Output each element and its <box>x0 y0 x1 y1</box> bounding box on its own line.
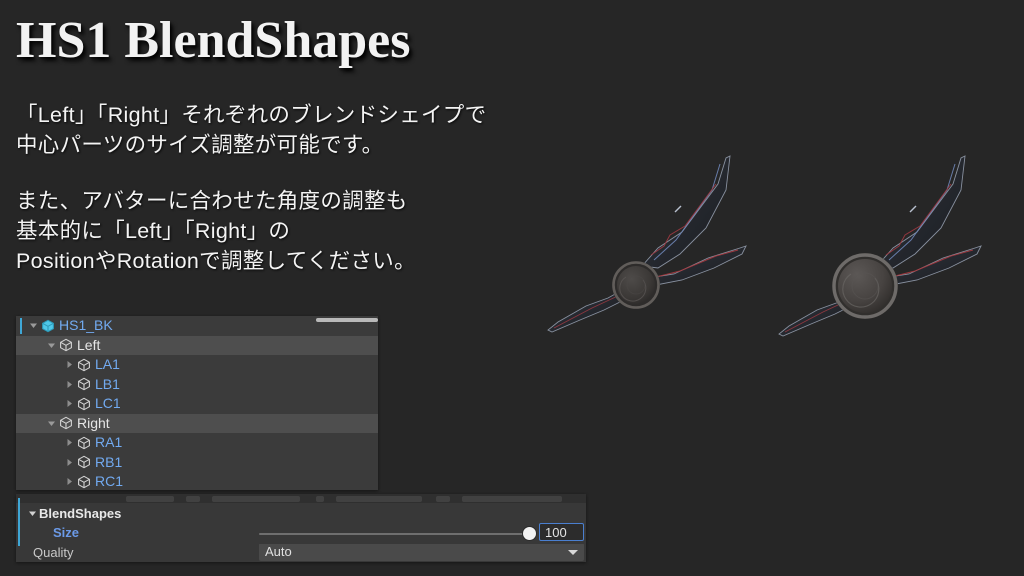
paragraph-2-line-1: また、アバターに合わせた角度の調整も <box>16 186 576 216</box>
chevron-right-icon[interactable] <box>64 433 75 453</box>
prefab-cube-icon <box>39 316 56 336</box>
paragraph-spacer <box>16 160 576 186</box>
gameobject-cube-icon <box>57 336 74 356</box>
blendshapes-foldout-header[interactable]: BlendShapes <box>26 504 121 524</box>
hierarchy-row-label: Right <box>77 414 110 434</box>
hs1-model-small-hub <box>530 128 765 373</box>
size-slider-handle[interactable] <box>523 527 536 540</box>
paragraph-2: また、アバターに合わせた角度の調整も 基本的に「Left」「Right」の Po… <box>16 186 576 276</box>
gameobject-cube-icon <box>75 375 92 395</box>
hierarchy-row-label: LA1 <box>95 355 120 375</box>
hierarchy-row-label: Left <box>77 336 100 356</box>
blendshapes-header-label: BlendShapes <box>39 506 121 521</box>
quality-dropdown[interactable]: Auto <box>259 544 584 561</box>
hierarchy-row-rb1[interactable]: RB1 <box>16 453 378 473</box>
quality-label: Quality <box>33 544 73 562</box>
chevron-right-icon[interactable] <box>64 453 75 473</box>
chevron-down-icon <box>26 504 39 524</box>
gameobject-cube-icon <box>75 472 92 490</box>
size-value-field[interactable]: 100 <box>539 523 584 541</box>
prefab-indicator-bar <box>20 318 22 334</box>
chevron-right-icon[interactable] <box>64 355 75 375</box>
hierarchy-row-la1[interactable]: LA1 <box>16 355 378 375</box>
size-property-row[interactable]: Size 100 <box>16 522 586 544</box>
paragraph-1-line-2: 中心パーツのサイズ調整が可能です。 <box>16 130 576 160</box>
chevron-down-icon[interactable] <box>46 414 57 434</box>
chevron-right-icon[interactable] <box>64 472 75 490</box>
hs1-model-large-hub <box>765 128 1015 373</box>
hierarchy-row-label: RB1 <box>95 453 122 473</box>
slide-root: HS1 BlendShapes 「Left」「Right」それぞれのブレンドシェ… <box>0 0 1024 576</box>
gameobject-cube-icon <box>75 433 92 453</box>
chevron-down-icon <box>568 550 578 555</box>
chevron-down-icon[interactable] <box>46 336 57 356</box>
hierarchy-row-lb1[interactable]: LB1 <box>16 375 378 395</box>
paragraph-1-line-1: 「Left」「Right」それぞれのブレンドシェイプで <box>16 100 576 130</box>
gameobject-cube-icon <box>57 414 74 434</box>
gameobject-cube-icon <box>75 355 92 375</box>
paragraph-1: 「Left」「Right」それぞれのブレンドシェイプで 中心パーツのサイズ調整が… <box>16 100 576 160</box>
body-copy: 「Left」「Right」それぞれのブレンドシェイプで 中心パーツのサイズ調整が… <box>16 100 576 276</box>
paragraph-2-line-2: 基本的に「Left」「Right」の <box>16 216 576 246</box>
page-title: HS1 BlendShapes <box>16 10 411 72</box>
gameobject-cube-icon <box>75 453 92 473</box>
unity-inspector-blendshapes[interactable]: BlendShapes Size 100 Quality Auto <box>16 494 586 562</box>
hierarchy-row-label: LB1 <box>95 375 120 395</box>
hierarchy-row-label: LC1 <box>95 394 121 414</box>
unity-hierarchy-panel[interactable]: HS1_BKLeftLA1LB1LC1RightRA1RB1RC1 <box>16 316 378 490</box>
hierarchy-row-lc1[interactable]: LC1 <box>16 394 378 414</box>
hierarchy-row-rc1[interactable]: RC1 <box>16 472 378 490</box>
size-label: Size <box>53 524 79 542</box>
hierarchy-tree[interactable]: HS1_BKLeftLA1LB1LC1RightRA1RB1RC1 <box>16 316 378 490</box>
inspector-cutoff-row <box>16 494 586 503</box>
hierarchy-row-ra1[interactable]: RA1 <box>16 433 378 453</box>
hierarchy-row-label: RC1 <box>95 472 123 490</box>
quality-selected-value: Auto <box>265 544 292 561</box>
chevron-right-icon[interactable] <box>64 375 75 395</box>
hierarchy-row-label: HS1_BK <box>59 316 113 336</box>
hierarchy-row-right[interactable]: Right <box>16 414 378 434</box>
hierarchy-row-hs1_bk[interactable]: HS1_BK <box>16 316 378 336</box>
paragraph-2-line-3: PositionやRotationで調整してください。 <box>16 246 576 276</box>
size-slider-track[interactable] <box>259 533 529 535</box>
hierarchy-row-label: RA1 <box>95 433 122 453</box>
chevron-right-icon[interactable] <box>64 394 75 414</box>
gameobject-cube-icon <box>75 394 92 414</box>
chevron-down-icon[interactable] <box>28 316 39 336</box>
quality-property-row[interactable]: Quality Auto <box>16 544 586 562</box>
hierarchy-row-left[interactable]: Left <box>16 336 378 356</box>
